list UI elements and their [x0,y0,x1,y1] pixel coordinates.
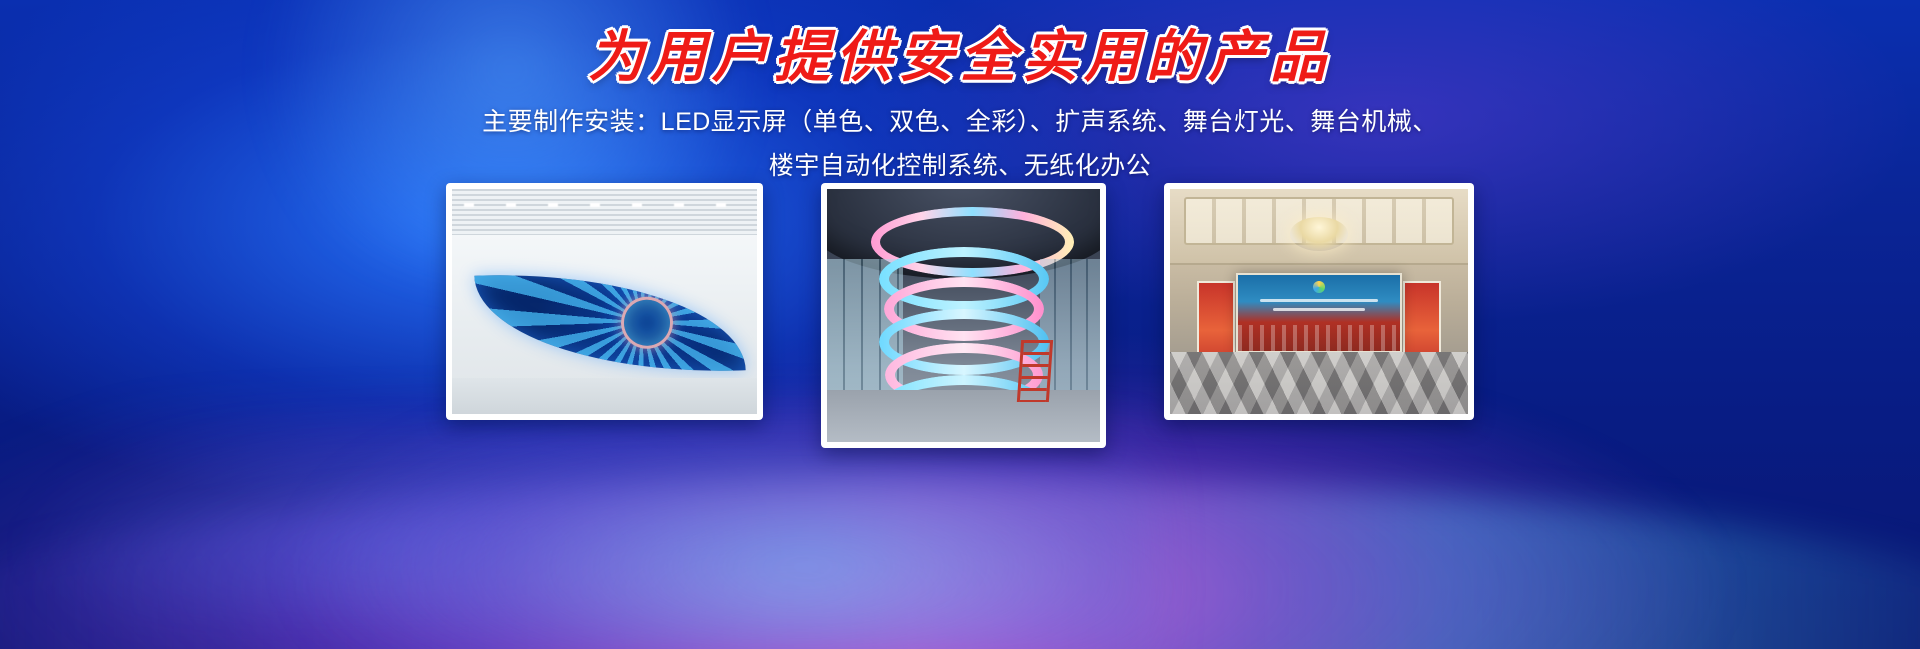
stage-led-wall [1236,273,1403,353]
stage-screen-skyline-graphic [1238,325,1401,351]
photo-spiral-ribbon-led-atrium [827,189,1100,442]
stage-screen-text-line-2 [1273,308,1364,311]
banner-subtitle: 主要制作安装：LED显示屏（单色、双色、全彩）、扩声系统、舞台灯光、舞台机械、 … [0,100,1920,188]
background-light-arc [0,479,1920,649]
project-photo-gallery [0,183,1920,448]
chandelier [1290,217,1348,251]
gallery-card-eye-shaped-led-screen-hall[interactable] [446,183,763,420]
banquet-floor [1170,352,1468,414]
promo-banner: 为用户提供安全实用的产品 主要制作安装：LED显示屏（单色、双色、全彩）、扩声系… [0,0,1920,649]
photo-eye-shaped-led-screen-hall [452,189,757,414]
banner-subtitle-line-2: 楼宇自动化控制系统、无纸化办公 [0,144,1920,188]
gallery-card-spiral-ribbon-led-atrium[interactable] [821,183,1106,448]
stage-screen-logo [1313,281,1325,293]
stage-screen-text-line-1 [1260,299,1377,302]
banner-headline: 为用户提供安全实用的产品 [0,24,1920,90]
photo-banquet-hall-stage-led-wall [1170,189,1468,414]
atrium-floor [827,390,1100,442]
step-ladder [1017,340,1053,402]
eye-shaped-led-display [475,266,747,379]
hall-floor [452,378,757,414]
banner-subtitle-line-1: 主要制作安装：LED显示屏（单色、双色、全彩）、扩声系统、舞台灯光、舞台机械、 [0,100,1920,144]
gallery-card-banquet-hall-stage-led-wall[interactable] [1164,183,1474,420]
hall-ceiling [452,189,757,240]
